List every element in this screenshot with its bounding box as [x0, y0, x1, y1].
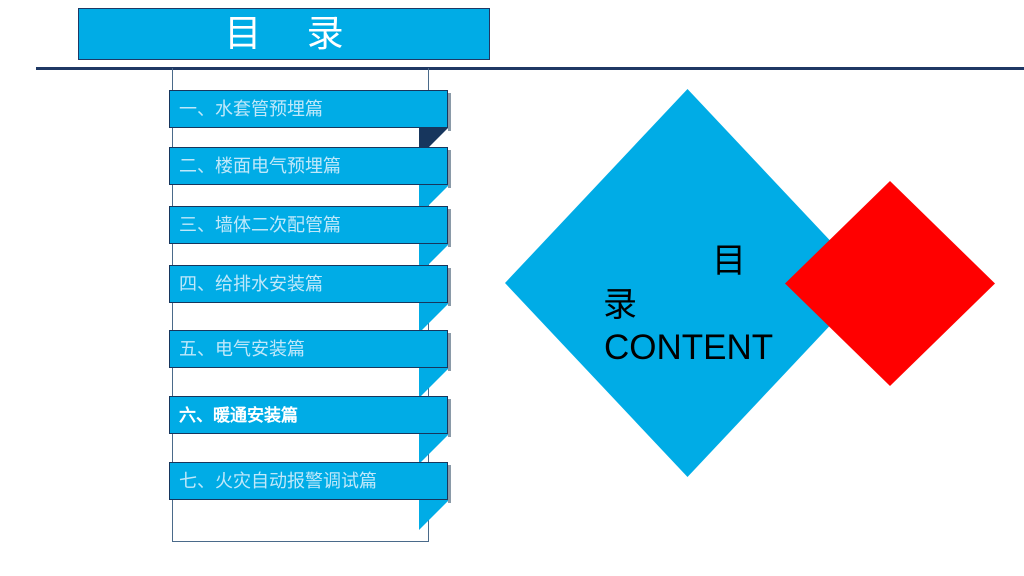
- toc-item-6[interactable]: 六、暖通安装篇: [169, 396, 448, 434]
- toc-item-1[interactable]: 一、水套管预埋篇: [169, 90, 448, 128]
- toc-fold-7: [419, 500, 449, 530]
- toc-item-2-label: 二、楼面电气预埋篇: [170, 157, 341, 175]
- red-diamond-shape: [785, 181, 995, 386]
- diamond-label-mu: 目: [712, 245, 746, 279]
- toc-fold-5: [419, 368, 449, 398]
- toc-ribbon-shadow-2: [448, 150, 451, 188]
- toc-item-4[interactable]: 四、给排水安装篇: [169, 265, 448, 303]
- toc-item-1-label: 一、水套管预埋篇: [170, 100, 323, 118]
- toc-item-7[interactable]: 七、火灾自动报警调试篇: [169, 462, 448, 500]
- toc-ribbon-shadow-1: [448, 93, 451, 131]
- toc-item-4-label: 四、给排水安装篇: [170, 275, 323, 293]
- toc-ribbon-shadow-5: [448, 333, 451, 371]
- toc-item-2[interactable]: 二、楼面电气预埋篇: [169, 147, 448, 185]
- toc-item-5-label: 五、电气安装篇: [170, 340, 305, 358]
- header-divider: [36, 67, 1024, 70]
- toc-ribbon-shadow-3: [448, 209, 451, 247]
- diamond-label-content: CONTENT: [604, 330, 773, 365]
- toc-fold-4: [419, 303, 449, 333]
- toc-ribbon-shadow-6: [448, 399, 451, 437]
- toc-item-3[interactable]: 三、墙体二次配管篇: [169, 206, 448, 244]
- toc-item-7-label: 七、火灾自动报警调试篇: [170, 472, 377, 490]
- toc-item-5[interactable]: 五、电气安装篇: [169, 330, 448, 368]
- toc-ribbon-shadow-7: [448, 465, 451, 503]
- page-title: 目 录: [206, 16, 361, 53]
- slide-canvas: 目 录 一、水套管预埋篇 二、楼面电气预埋篇 三、墙体二次配管篇 四、给排水安装…: [0, 0, 1024, 576]
- toc-item-6-label: 六、暖通安装篇: [170, 407, 298, 424]
- toc-item-3-label: 三、墙体二次配管篇: [170, 216, 341, 234]
- slide-title-banner: 目 录: [78, 8, 490, 60]
- toc-ribbon-shadow-4: [448, 268, 451, 306]
- diamond-label-lu: 录: [603, 289, 637, 323]
- toc-fold-6: [419, 434, 449, 464]
- toc-column-base-line: [172, 541, 429, 542]
